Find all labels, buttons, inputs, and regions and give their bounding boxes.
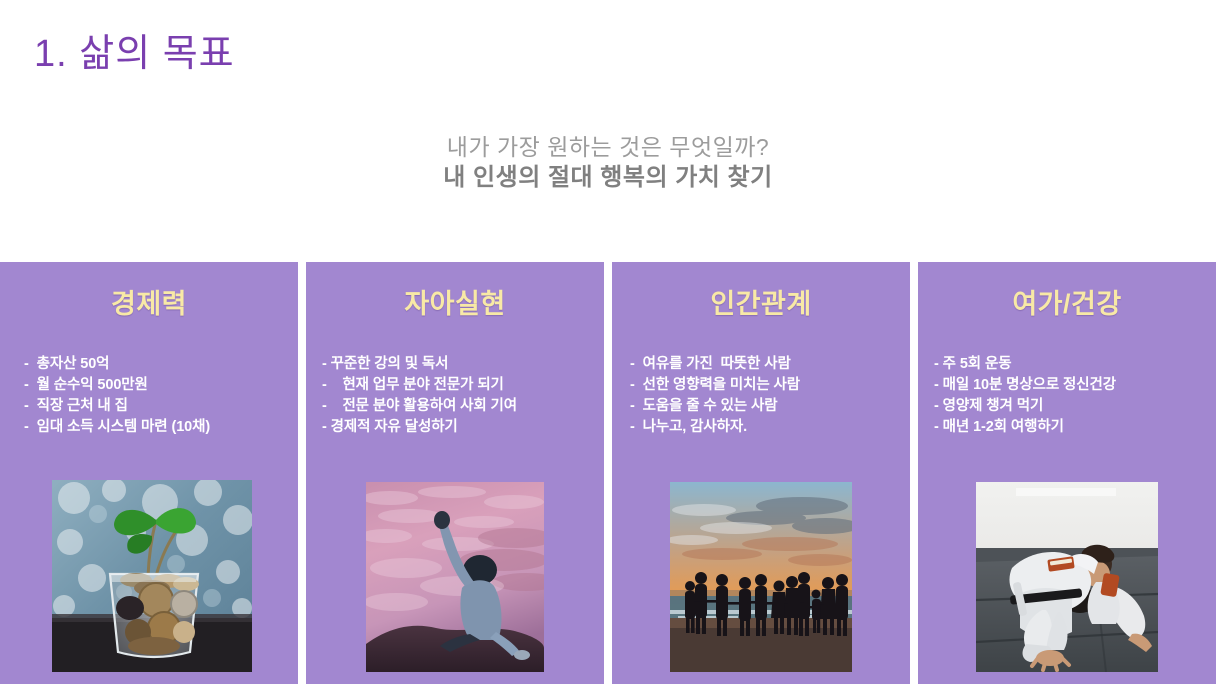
list-item: - 영양제 챙겨 먹기	[934, 396, 1202, 417]
list-item: - 임대 소득 시스템 마련 (10채)	[24, 417, 284, 438]
list-item: - 경제적 자유 달성하기	[322, 417, 590, 438]
subtitle-block: 내가 가장 원하는 것은 무엇일까? 내 인생의 절대 행복의 가치 찾기	[0, 132, 1216, 194]
list-item: - 꾸준한 강의 및 독서	[322, 354, 590, 375]
column-bullet-list: - 총자산 50억 - 월 순수익 500만원 - 직장 근처 내 집 - 임대…	[0, 354, 298, 438]
goal-column-leisure-health[interactable]: 여가/건강 - 주 5회 운동 - 매일 10분 명상으로 정신건강 - 영양제…	[918, 262, 1216, 684]
subtitle-question: 내가 가장 원하는 것은 무엇일까?	[0, 132, 1216, 162]
column-heading: 자아실현	[306, 282, 604, 321]
goal-column-relationships[interactable]: 인간관계 - 여유를 가진 따뜻한 사람 - 선한 영향력을 미치는 사람 - …	[612, 262, 910, 684]
jiujitsu-training-photo	[976, 482, 1158, 672]
list-item: - 여유를 가진 따뜻한 사람	[630, 354, 896, 375]
list-item: - 주 5회 운동	[934, 354, 1202, 375]
list-item: - 선한 영향력을 미치는 사람	[630, 375, 896, 396]
goal-column-economy[interactable]: 경제력 - 총자산 50억 - 월 순수익 500만원 - 직장 근처 내 집 …	[0, 262, 298, 684]
column-heading: 여가/건강	[918, 282, 1216, 321]
column-bullet-list: - 주 5회 운동 - 매일 10분 명상으로 정신건강 - 영양제 챙겨 먹기…	[918, 354, 1216, 438]
list-item: - 매일 10분 명상으로 정신건강	[934, 375, 1202, 396]
column-heading: 경제력	[0, 282, 298, 321]
list-item: - 월 순수익 500만원	[24, 375, 284, 396]
column-bullet-list: - 여유를 가진 따뜻한 사람 - 선한 영향력을 미치는 사람 - 도움을 줄…	[612, 354, 910, 438]
column-bullet-list: - 꾸준한 강의 및 독서 - 현재 업무 분야 전문가 되기 - 전문 분야 …	[306, 354, 604, 438]
list-item: - 직장 근처 내 집	[24, 396, 284, 417]
list-item: - 매년 1-2회 여행하기	[934, 417, 1202, 438]
list-item: - 나누고, 감사하자.	[630, 417, 896, 438]
list-item: - 현재 업무 분야 전문가 되기	[322, 375, 590, 396]
list-item: - 도움을 줄 수 있는 사람	[630, 396, 896, 417]
coins-plant-photo	[52, 480, 252, 672]
page-title: 1. 삶의 목표	[34, 22, 235, 77]
list-item: - 전문 분야 활용하여 사회 기여	[322, 396, 590, 417]
goal-column-selfactualization[interactable]: 자아실현 - 꾸준한 강의 및 독서 - 현재 업무 분야 전문가 되기 - 전…	[306, 262, 604, 684]
goal-columns: 경제력 - 총자산 50억 - 월 순수익 500만원 - 직장 근처 내 집 …	[0, 262, 1216, 684]
list-item: - 총자산 50억	[24, 354, 284, 375]
beach-sunset-group-photo	[670, 482, 852, 672]
subtitle-statement: 내 인생의 절대 행복의 가치 찾기	[0, 162, 1216, 194]
mountain-victory-photo	[366, 482, 544, 672]
column-heading: 인간관계	[612, 282, 910, 321]
